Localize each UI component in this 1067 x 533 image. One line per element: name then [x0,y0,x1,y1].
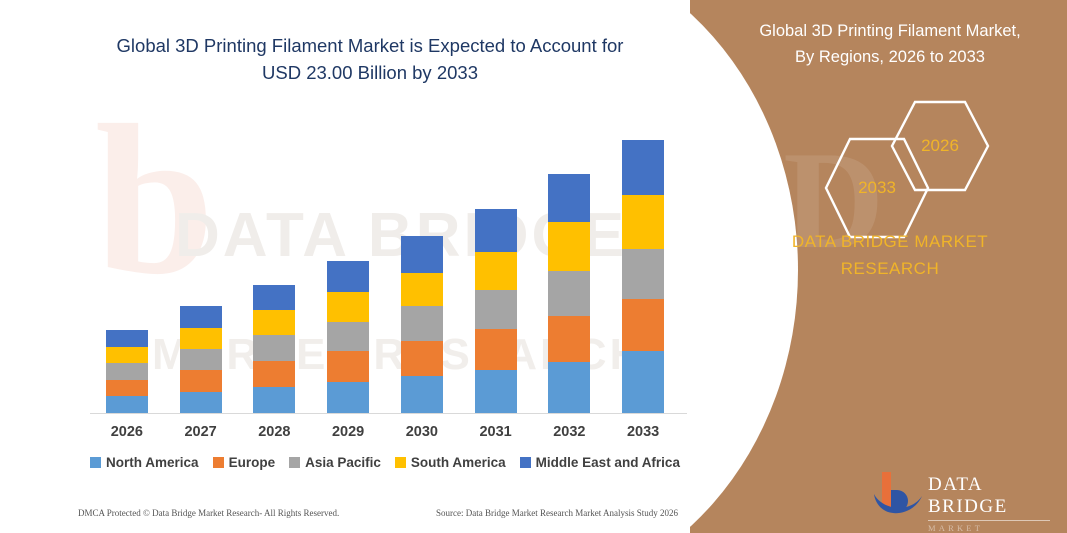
legend-item[interactable]: North America [90,455,199,470]
legend-label: Europe [229,455,276,470]
x-axis-tick-labels: 20262027202820292030203120322033 [90,424,680,440]
bar-segment[interactable] [106,396,148,413]
bar-segment[interactable] [401,273,443,306]
legend-swatch-icon [213,457,224,468]
legend-swatch-icon [289,457,300,468]
bar-segment[interactable] [106,363,148,380]
bar-segment[interactable] [106,347,148,364]
legend-item[interactable]: Asia Pacific [289,455,381,470]
chart-title-line-2: USD 23.00 Billion by 2033 [60,59,680,86]
footer-source: Source: Data Bridge Market Research Mark… [436,508,678,518]
x-tick-2031: 2031 [459,424,533,440]
panel-brand-line-1: DATA BRIDGE MARKET [730,228,1050,255]
bar-segment[interactable] [548,174,590,221]
stacked-bar[interactable] [401,236,443,413]
stacked-bar[interactable] [475,209,517,413]
bar-segment[interactable] [180,370,222,391]
hexagon-2033-label: 2033 [822,178,932,198]
bar-segment[interactable] [253,361,295,387]
bar-group-2032 [533,140,607,413]
legend-label: Asia Pacific [305,455,381,470]
logo-subtitle: MARKET RESEARCH [928,523,1052,533]
stacked-bar[interactable] [253,285,295,413]
x-tick-2026: 2026 [90,424,164,440]
bar-group-2030 [385,140,459,413]
legend-label: South America [411,455,506,470]
panel-title-line-2: By Regions, 2026 to 2033 [730,44,1050,70]
bar-segment[interactable] [327,292,369,322]
panel-title-line-1: Global 3D Printing Filament Market, [730,18,1050,44]
stacked-bar[interactable] [548,174,590,413]
logo-name: DATA BRIDGE [928,474,1052,518]
legend-item[interactable]: Middle East and Africa [520,455,680,470]
right-brand-panel: RD Global 3D Printing Filament Market, B… [690,0,1067,533]
bar-segment[interactable] [106,330,148,347]
stacked-bar[interactable] [106,330,148,413]
footer-copyright: DMCA Protected © Data Bridge Market Rese… [78,508,339,518]
bar-segment[interactable] [253,335,295,361]
bar-group-2029 [311,140,385,413]
bar-group-2033 [606,140,680,413]
bar-segment[interactable] [401,341,443,377]
bar-segment[interactable] [327,261,369,292]
x-tick-2029: 2029 [311,424,385,440]
x-tick-2027: 2027 [164,424,238,440]
bar-segment[interactable] [327,351,369,382]
bar-group-2031 [459,140,533,413]
bar-segment[interactable] [180,349,222,370]
legend-label: Middle East and Africa [536,455,680,470]
x-tick-2030: 2030 [385,424,459,440]
bar-segment[interactable] [253,285,295,310]
stacked-bar-chart [90,140,680,413]
bar-segment[interactable] [622,195,664,250]
panel-brand-text: DATA BRIDGE MARKET RESEARCH [730,228,1050,282]
chart-title: Global 3D Printing Filament Market is Ex… [60,32,680,86]
legend-swatch-icon [520,457,531,468]
bar-segment[interactable] [180,392,222,413]
bar-segment[interactable] [548,362,590,413]
bar-segment[interactable] [622,351,664,413]
bar-segment[interactable] [180,328,222,349]
hexagon-2033: 2033 [822,133,932,243]
bar-segment[interactable] [475,370,517,413]
chart-title-line-1: Global 3D Printing Filament Market is Ex… [60,32,680,59]
bar-segment[interactable] [475,252,517,290]
panel-title: Global 3D Printing Filament Market, By R… [730,18,1050,70]
bar-segment[interactable] [475,290,517,329]
bar-segment[interactable] [401,306,443,340]
legend-swatch-icon [90,457,101,468]
logo-text: DATA BRIDGE MARKET RESEARCH [928,474,1052,533]
footer: DMCA Protected © Data Bridge Market Rese… [78,508,678,518]
stacked-bar[interactable] [180,306,222,413]
legend-label: North America [106,455,199,470]
data-bridge-logo: DATA BRIDGE MARKET RESEARCH [872,468,1052,520]
legend-swatch-icon [395,457,406,468]
bar-segment[interactable] [475,209,517,252]
bar-segment[interactable] [622,249,664,299]
panel-brand-line-2: RESEARCH [730,255,1050,282]
bar-group-2027 [164,140,238,413]
bar-group-2028 [238,140,312,413]
bar-segment[interactable] [401,376,443,413]
bar-segment[interactable] [180,306,222,327]
bar-segment[interactable] [327,382,369,413]
legend-item[interactable]: South America [395,455,506,470]
logo-divider [928,520,1050,521]
bar-segment[interactable] [548,222,590,271]
bar-segment[interactable] [106,380,148,397]
bar-segment[interactable] [401,236,443,273]
x-tick-2032: 2032 [533,424,607,440]
bar-segment[interactable] [548,316,590,362]
x-axis-line [90,413,687,414]
stacked-bar[interactable] [622,140,664,413]
bar-segment[interactable] [327,322,369,352]
bar-group-2026 [90,140,164,413]
bar-segment[interactable] [253,387,295,413]
bar-segment[interactable] [253,310,295,335]
infographic-slide: b DATA BRIDGE MARKET RESEARCH Global 3D … [0,0,1067,533]
logo-b-mark-icon [872,470,924,516]
x-tick-2033: 2033 [606,424,680,440]
bar-segment[interactable] [622,140,664,195]
chart-legend: North AmericaEuropeAsia PacificSouth Ame… [90,455,680,470]
bar-segment[interactable] [475,329,517,371]
bar-segment[interactable] [548,271,590,316]
stacked-bar[interactable] [327,261,369,413]
legend-item[interactable]: Europe [213,455,276,470]
bar-segment[interactable] [622,299,664,351]
x-tick-2028: 2028 [238,424,312,440]
